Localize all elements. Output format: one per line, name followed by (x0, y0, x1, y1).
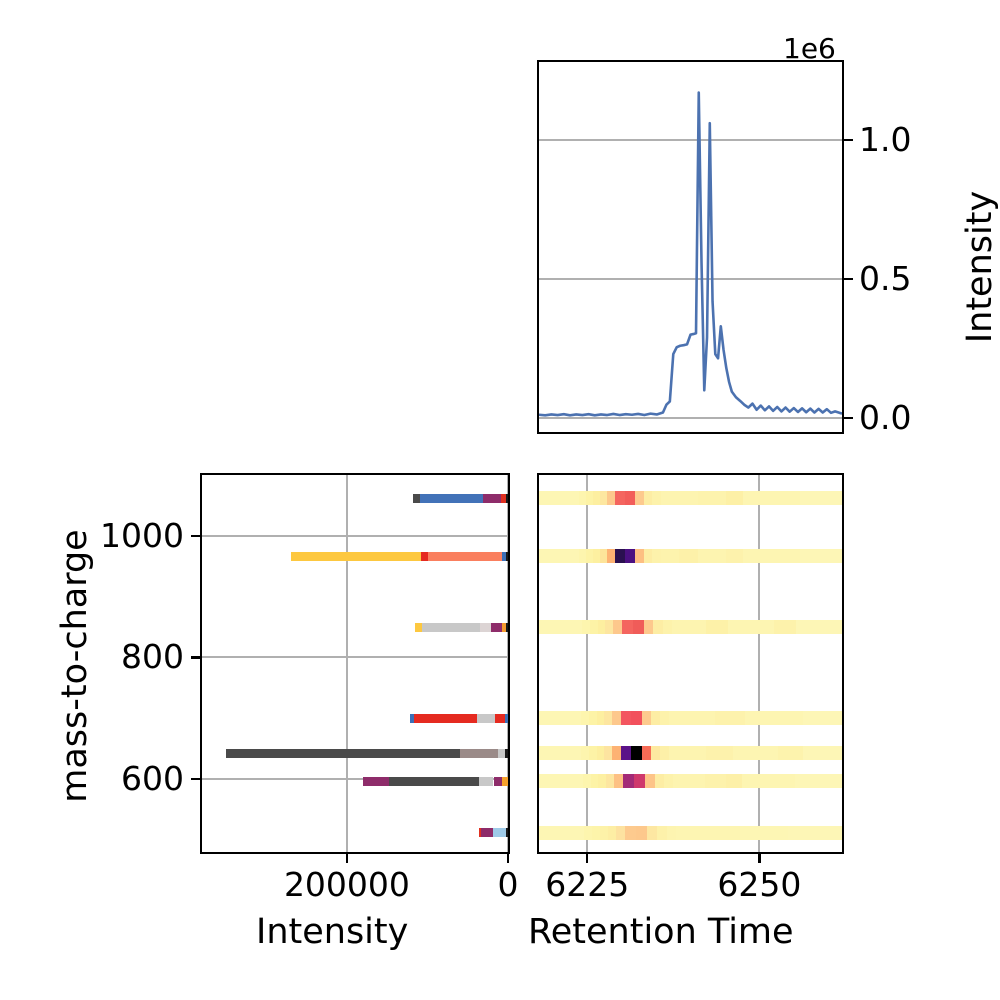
heatmap-cell (669, 711, 715, 725)
bar-segment (506, 828, 508, 837)
chromatogram-y-axis-title: Intensity (960, 117, 1000, 417)
gridline-mz-800 (202, 656, 508, 658)
heatmap-cell (728, 620, 775, 634)
tickmark-y-1.0 (844, 139, 853, 141)
tickmark-mz-600 (191, 778, 200, 780)
bar-segment (421, 552, 428, 561)
chromatogram-panel (537, 60, 844, 434)
tickmark-y-0.5 (844, 278, 853, 280)
gridline-mz-1000 (202, 535, 508, 537)
bar-segment (506, 494, 508, 503)
heatmap-cell (539, 711, 582, 725)
heatmap-cell (621, 746, 632, 760)
bar-segment (414, 714, 477, 723)
heatmap-cell (625, 826, 637, 840)
heatmap-cell (795, 774, 842, 788)
heatmap-cell (676, 826, 740, 840)
heatmap-cell (726, 549, 744, 563)
heatmap-cell (539, 774, 583, 788)
heatmap-cell (726, 774, 742, 788)
bar-segment (413, 494, 420, 503)
bar-segment (502, 777, 508, 786)
heatmap-cell (669, 746, 706, 760)
heatmap-cell (706, 620, 728, 634)
heatmap-cell (623, 774, 635, 788)
bar-segment (363, 777, 389, 786)
heatmap-cell (633, 620, 644, 634)
tickmark-mz-1000 (191, 535, 200, 537)
gridline-intensity-200000 (346, 475, 348, 852)
bar-segment (506, 623, 508, 632)
tickmark-rt-6225 (586, 854, 588, 863)
heatmap-cell (743, 549, 800, 563)
bar-segment (491, 623, 501, 632)
gridline-intensity-0 (507, 475, 509, 852)
heatmap-cell (774, 620, 796, 634)
bar-segment (506, 552, 508, 561)
bar-segment (389, 777, 479, 786)
bar-segment (422, 623, 480, 632)
bar-segment (226, 749, 460, 758)
retention-time-heatmap-panel (537, 473, 844, 854)
heatmap-cell (733, 746, 779, 760)
heatmap-cell (631, 711, 642, 725)
bar-segment (420, 494, 483, 503)
chromatogram-trace (539, 93, 842, 416)
bar-segment (483, 494, 501, 503)
tickmark-intensity-200000 (346, 854, 348, 863)
heatmap-cell (539, 549, 579, 563)
heatmap-cell (661, 491, 698, 505)
heatmap-cell (622, 620, 633, 634)
tickmark-rt-6250 (758, 854, 760, 863)
mass-to-charge-axis-title: mass-to-charge (55, 496, 95, 836)
heatmap-cell (539, 620, 583, 634)
heatmap-cell (631, 746, 642, 760)
heatmap-cell (796, 620, 843, 634)
heatmap-cell (803, 746, 843, 760)
heatmap-cell (636, 826, 648, 840)
bar-segment (495, 714, 505, 723)
bar-segment (505, 714, 508, 723)
intensity-axis-title: Intensity (256, 915, 408, 950)
heatmap-cell (800, 549, 843, 563)
bar-segment (428, 552, 502, 561)
tick-label-intensity-1.0: 1.0 (859, 123, 911, 156)
bar-segment (505, 749, 508, 758)
tick-label-intensity-0.0: 0.0 (859, 401, 911, 434)
gridline-rt-6225 (586, 475, 588, 852)
bar-segment (291, 552, 421, 561)
tickmark-intensity-0 (507, 854, 509, 863)
bar-segment (477, 714, 496, 723)
bar-segment (493, 828, 506, 837)
intensity-bar-panel (200, 473, 510, 854)
retention-time-axis-title: Retention Time (528, 915, 794, 950)
heatmap-cell (705, 774, 727, 788)
bar-segment (494, 777, 503, 786)
heatmap-cell (715, 711, 746, 725)
bar-segment (479, 777, 493, 786)
heatmap-cell (800, 491, 843, 505)
heatmap-cell (661, 549, 680, 563)
heatmap-cell (788, 826, 843, 840)
heatmap-cell (778, 746, 803, 760)
heatmap-cell (698, 491, 727, 505)
bar-segment (480, 623, 491, 632)
heatmap-cell (679, 549, 698, 563)
figure-root: 1e6 0.00.51.0 Intensity 1000800600 20000… (0, 0, 1000, 1000)
tickmark-y-0.0 (844, 417, 853, 419)
heatmap-cell (621, 711, 632, 725)
tick-label-intensity-0.5: 0.5 (859, 262, 911, 295)
heatmap-cell (539, 826, 584, 840)
tickmark-mz-800 (191, 656, 200, 658)
tick-label-rt-6250: 6250 (649, 868, 869, 901)
bar-segment (481, 828, 492, 837)
heatmap-cell (539, 491, 579, 505)
heatmap-cell (634, 774, 646, 788)
heatmap-cell (539, 746, 582, 760)
heatmap-cell (673, 774, 705, 788)
heatmap-cell (743, 491, 800, 505)
heatmap-cell (803, 711, 843, 725)
heatmap-cell (706, 746, 734, 760)
heatmap-cell (740, 826, 788, 840)
heatmap-cell (698, 549, 727, 563)
chromatogram-line (539, 62, 842, 432)
heatmap-cell (742, 774, 796, 788)
heatmap-cell (726, 491, 744, 505)
bar-segment (460, 749, 499, 758)
heatmap-cell (745, 711, 803, 725)
gridline-rt-6250 (758, 475, 760, 852)
heatmap-cell (672, 620, 707, 634)
